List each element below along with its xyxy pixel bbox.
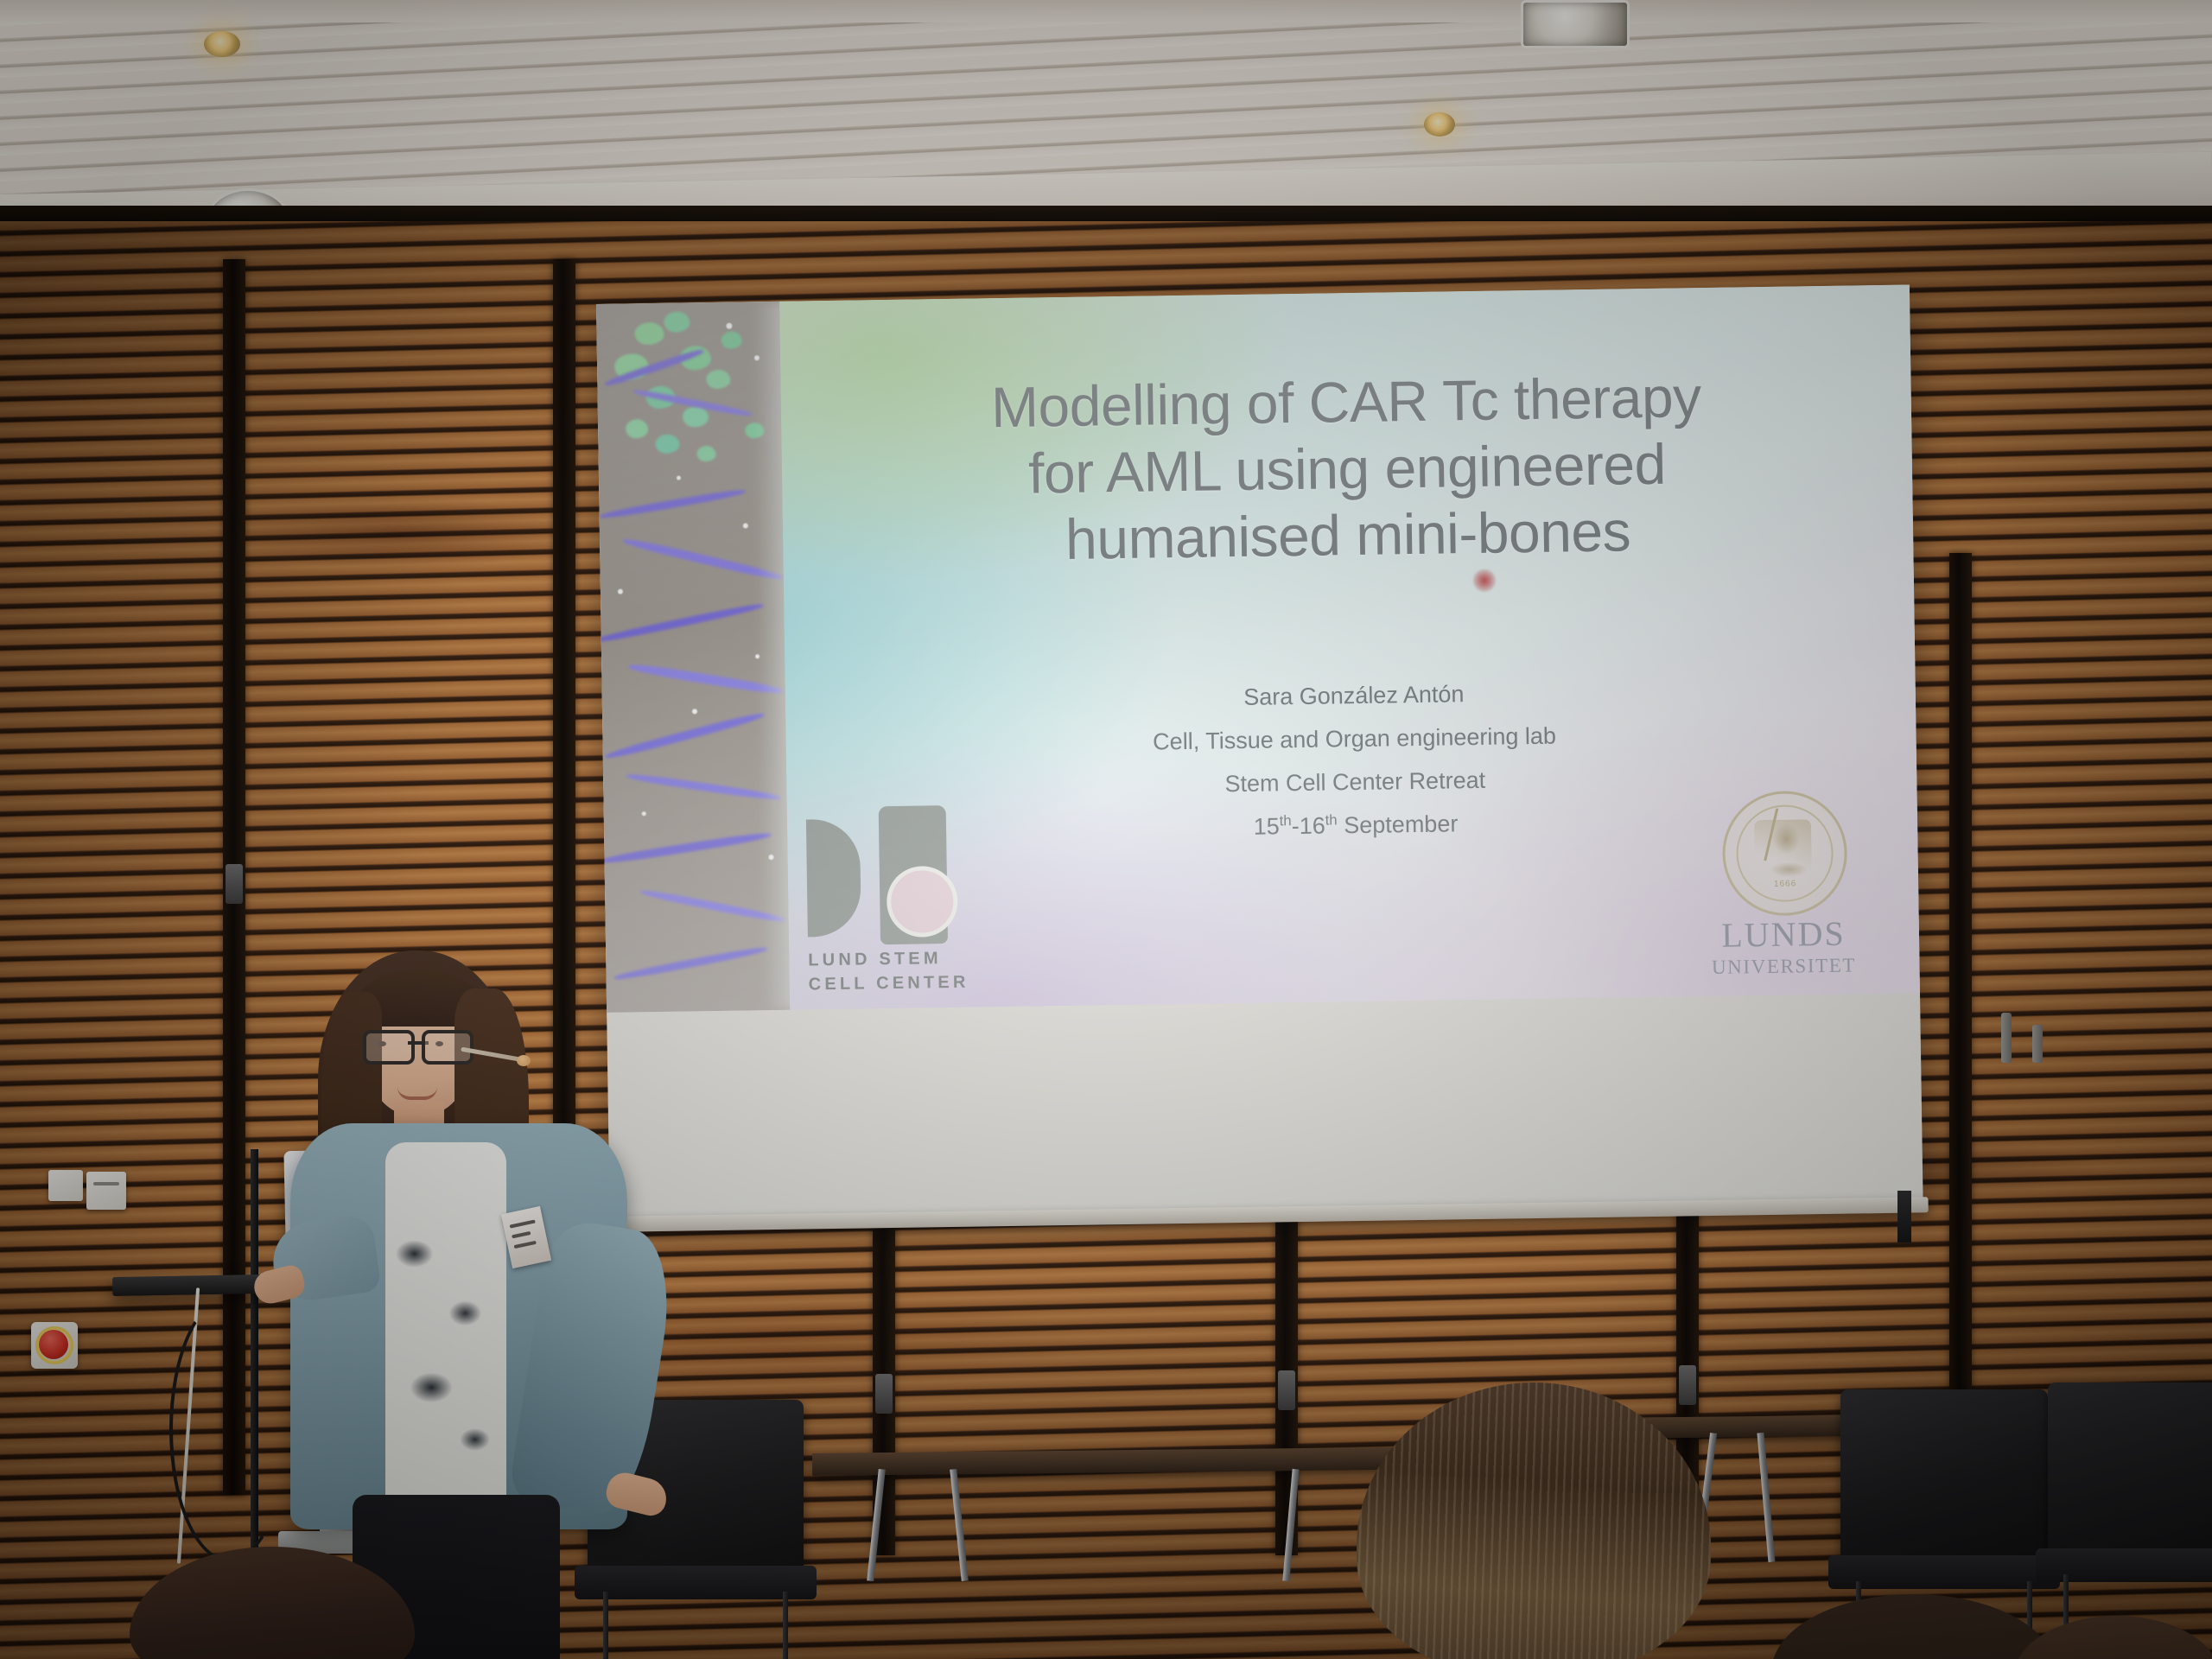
wall-switch-plate[interactable] [48,1170,83,1201]
card-slot [93,1182,118,1185]
projected-slide: Modelling of CAR Tc therapy for AML usin… [596,284,1920,1012]
glasses-icon [363,1030,474,1059]
emergency-knob [39,1330,68,1359]
chair-seat [2036,1548,2212,1582]
wall-card-reader[interactable] [86,1172,126,1210]
presentation-photo-scene: Modelling of CAR Tc therapy for AML usin… [0,0,2212,1659]
downlight-warm-left [204,31,240,57]
chair-back [2048,1382,2212,1554]
badge-line-1 [510,1219,536,1228]
presenter-floral-blouse [385,1142,506,1514]
emergency-stop-button[interactable] [31,1322,78,1369]
ceiling-vent [1521,0,1630,48]
downlight-warm-center [1424,112,1455,137]
wall-top-trim [0,206,2212,221]
projection-haze [596,284,1920,1012]
wall-hook-right [2001,1013,2012,1063]
chair-seat [1828,1555,2061,1589]
projection-screen: Modelling of CAR Tc therapy for AML usin… [596,284,1923,1219]
chair-right-2[interactable] [2048,1382,2212,1642]
glasses-lens-left [363,1030,415,1065]
badge-line-2 [512,1231,531,1238]
chair-leg [783,1592,788,1659]
badge-line-3 [514,1241,537,1249]
wall-hook-right-2 [2032,1025,2043,1063]
headset-microphone-capsule [517,1055,531,1066]
ceiling-edge-trim [0,0,2212,22]
screen-mount-right [1897,1191,1911,1243]
chair-back [1840,1389,2048,1560]
